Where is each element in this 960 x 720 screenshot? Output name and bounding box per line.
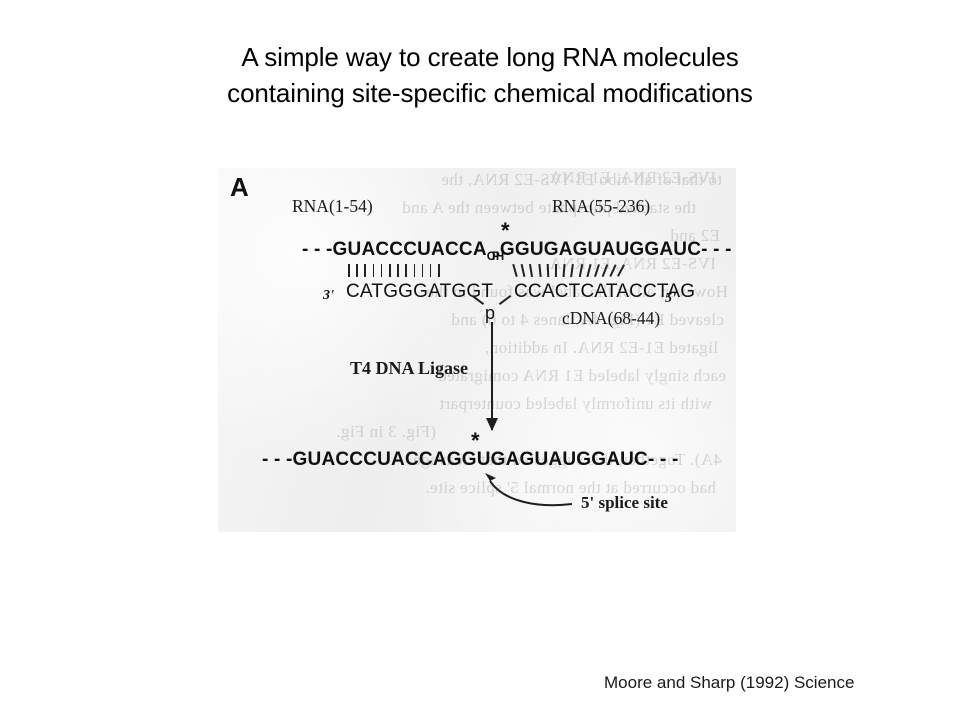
base-pair-tick [521,264,525,277]
base-pair-tick [538,264,541,277]
curved-arrow-icon [468,468,580,514]
ghost-line: with its uniformly labeled counterpart [439,394,712,414]
page-title: A simple way to create long RNA molecule… [120,40,860,112]
reaction-arrow-down [486,322,498,430]
base-pair-tick [512,264,517,277]
base-pair-tick [356,264,358,277]
label-rna-left: RNA(1-54) [292,196,373,217]
base-pair-tick [430,264,432,277]
bottom-strand-three-prime: 3' [323,283,334,305]
ghost-line: IVS-E2 RNA, E1 RNA, [545,168,716,188]
base-pair-tick [529,264,533,277]
label-enzyme: T4 DNA Ligase [350,358,468,379]
citation-text: Moore and Sharp (1992) Science [604,673,854,693]
base-pair-tick [348,264,350,277]
base-pair-tick [546,264,548,277]
product-right-dashes: - - - [648,449,679,470]
arrow-shaft [491,322,493,430]
top-strand-right: PGGUGAGUAUGGAUC- - - [492,239,732,263]
base-pair-ticks-right [514,264,629,277]
base-pair-tick [578,264,582,277]
ghost-line: (Fig. 3 in Fig. [336,422,436,442]
label-splice-site: 5' splice site [581,493,668,513]
base-pair-tick [438,264,440,277]
base-pair-tick [389,264,391,277]
ghost-line: to that of all-ribo E1-IVS-E2 RNA, the [441,170,722,190]
base-pair-tick [610,264,617,276]
base-pair-tick [594,264,599,277]
ghost-line: the stacked phosphate between the A and [402,198,696,218]
base-pair-tick [405,264,407,277]
panel-letter-a: A [230,172,249,203]
base-pair-tick [381,264,383,277]
ghost-line: each singly labeled E1 RNA comigrated [438,366,726,386]
page-title-line-2: containing site-specific chemical modifi… [120,76,860,112]
base-pair-tick [570,264,573,277]
five-prime-label: 5' [665,291,676,306]
phosphate-connector-left [472,295,484,305]
bottom-strand-five-prime: 5' [665,286,676,308]
base-pair-ticks-left [348,264,446,277]
top-strand-right-dashes: - - - [701,239,732,260]
splice-site-pointer-arrow [468,468,580,514]
page-title-line-1: A simple way to create long RNA molecule… [120,40,860,76]
base-pair-tick [422,264,424,277]
label-cdna: cDNA(68-44) [562,308,660,329]
phosphate-connector-right [499,295,511,305]
base-pair-tick [563,264,566,277]
top-strand-left: - - -GUACCCUACCAOH [302,239,504,263]
base-pair-tick [586,264,591,277]
figure-image-panel-a: to that of all-ribo E1-IVS-E2 RNA, the t… [218,168,736,532]
base-pair-tick [602,264,608,277]
top-strand-right-sequence: GGUGAGUAUGGAUC [500,239,701,260]
base-pair-tick [373,264,375,277]
base-pair-tick [397,264,399,277]
three-prime-label: 3' [323,288,334,303]
base-pair-tick [555,264,557,277]
product-sequence: GUACCCUACCAGGUGAGUAUGGAUC [293,449,648,470]
base-pair-tick [414,264,416,277]
ghost-line: ligated E1-E2 RNA. In addition, [485,338,718,358]
base-pair-tick [364,264,366,277]
base-pair-tick [617,264,625,276]
product-left-dashes: - - - [262,449,293,470]
arrow-head [486,418,498,431]
label-rna-right: RNA(55-236) [552,196,650,217]
top-strand-left-dashes: - - - [302,239,333,260]
top-strand-left-sequence: GUACCCUACCA [333,239,487,260]
top-strand-phosphate-terminus: P [492,251,500,263]
bridge-phosphate-label: p [485,303,495,324]
